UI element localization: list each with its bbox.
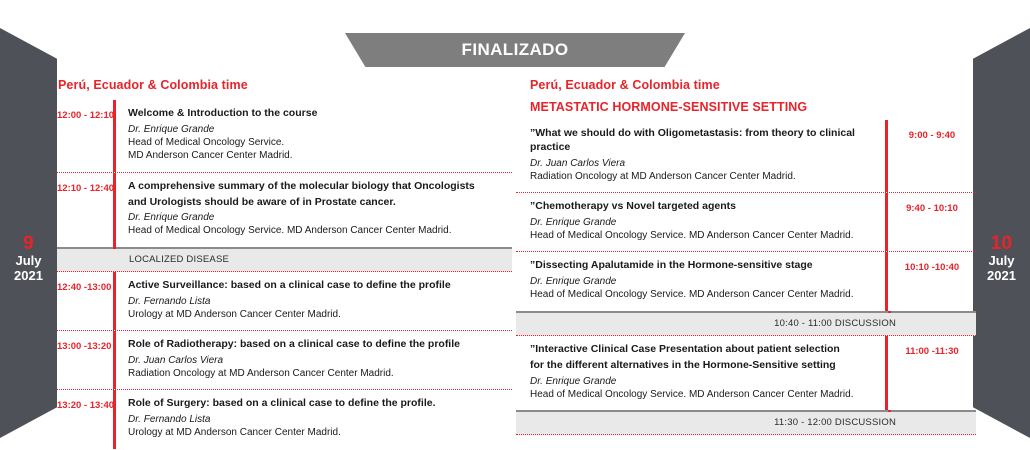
- band-tick: [888, 311, 891, 313]
- session-title-2: and Urologists should be aware of in Pro…: [128, 196, 506, 210]
- agenda-row: ”Interactive Clinical Case Presentation …: [516, 336, 976, 410]
- session-time: 12:10 - 12:40: [57, 173, 113, 194]
- session-affiliation: Head of Medical Oncology Service.: [128, 136, 506, 149]
- session-time: 13:00 -13:20: [57, 331, 113, 352]
- session-speaker: Dr. Fernando Lista: [128, 413, 506, 426]
- date-flap-day1-day: 9: [0, 233, 57, 254]
- session-body: Welcome & Introduction to the course Dr.…: [116, 100, 512, 172]
- band-tick: [888, 410, 891, 412]
- agenda-row: 12:10 - 12:40 A comprehensive summary of…: [57, 172, 512, 247]
- date-flap-day1-inner: 9 July 2021: [0, 233, 57, 283]
- session-affiliation: Head of Medical Oncology Service. MD And…: [530, 288, 877, 301]
- agenda-rows-day1-part2: 12:40 -13:00 Active Surveillance: based …: [57, 272, 512, 449]
- date-flap-day2-day: 10: [973, 233, 1030, 254]
- session-title-2: for the different alternatives in the Ho…: [530, 359, 877, 373]
- session-title: Active Surveillance: based on a clinical…: [128, 279, 506, 293]
- session-title: Welcome & Introduction to the course: [128, 107, 506, 121]
- session-affiliation: Head of Medical Oncology Service. MD And…: [128, 224, 506, 237]
- session-title: Role of Radiotherapy: based on a clinica…: [128, 338, 506, 352]
- agenda-row: ”Dissecting Apalutamide in the Hormone-s…: [516, 251, 976, 310]
- section-heading-metastatic: METASTATIC HORMONE-SENSITIVE SETTING: [516, 100, 976, 114]
- session-title: A comprehensive summary of the molecular…: [128, 180, 506, 194]
- session-speaker: Dr. Enrique Grande: [530, 275, 877, 288]
- agenda-rows-day2-part1: ”What we should do with Oligometastasis:…: [516, 120, 976, 311]
- date-flap-day2-inner: 10 July 2021: [973, 233, 1030, 283]
- session-body: ”Interactive Clinical Case Presentation …: [516, 336, 885, 410]
- agenda-row: ”Chemotherapy vs Novel targeted agents D…: [516, 192, 976, 251]
- agenda-rows-day2-part2: ”Interactive Clinical Case Presentation …: [516, 336, 976, 410]
- timezone-title-day1: Perú, Ecuador & Colombia time: [57, 78, 512, 92]
- session-body: ”What we should do with Oligometastasis:…: [516, 120, 885, 192]
- session-speaker: Dr. Enrique Grande: [128, 211, 506, 224]
- session-body: Role of Surgery: based on a clinical cas…: [116, 390, 512, 448]
- discussion-band-1: 10:40 - 11:00 DISCUSSION: [516, 311, 976, 336]
- session-speaker: Dr. Juan Carlos Viera: [530, 157, 877, 170]
- session-body: Role of Radiotherapy: based on a clinica…: [116, 331, 512, 389]
- session-time: 11:00 -11:30: [888, 336, 976, 357]
- date-flap-day2: 10 July 2021: [973, 28, 1030, 438]
- session-speaker: Dr. Juan Carlos Viera: [128, 354, 506, 367]
- agenda-column-day2: Perú, Ecuador & Colombia time METASTATIC…: [516, 78, 976, 435]
- session-title: Role of Surgery: based on a clinical cas…: [128, 397, 506, 411]
- agenda-row: 12:00 - 12:10 Welcome & Introduction to …: [57, 100, 512, 172]
- agenda-column-day1: Perú, Ecuador & Colombia time 12:00 - 12…: [57, 78, 512, 449]
- agenda-poster: 9 July 2021 10 July 2021 FINALIZADO Perú…: [0, 0, 1030, 450]
- session-affiliation-2: MD Anderson Cancer Center Madrid.: [128, 149, 506, 162]
- date-flap-day1-year: 2021: [0, 269, 57, 284]
- session-time: 9:00 - 9:40: [888, 120, 976, 141]
- session-time: 13:20 - 13:40: [57, 390, 113, 411]
- status-badge-finalizado: FINALIZADO: [345, 33, 685, 67]
- session-time: 12:40 -13:00: [57, 272, 113, 293]
- date-flap-day2-year: 2021: [973, 269, 1030, 284]
- session-time: 9:40 - 10:10: [888, 193, 976, 214]
- session-speaker: Dr. Fernando Lista: [128, 295, 506, 308]
- session-speaker: Dr. Enrique Grande: [530, 216, 877, 229]
- agenda-row: 12:40 -13:00 Active Surveillance: based …: [57, 272, 512, 330]
- discussion-band-2: 11:30 - 12:00 DISCUSSION: [516, 410, 976, 435]
- session-body: ”Chemotherapy vs Novel targeted agents D…: [516, 193, 885, 251]
- agenda-row: 13:00 -13:20 Role of Radiotherapy: based…: [57, 330, 512, 389]
- session-speaker: Dr. Enrique Grande: [530, 375, 877, 388]
- session-time: 12:00 - 12:10: [57, 100, 113, 121]
- session-title: ”Dissecting Apalutamide in the Hormone-s…: [530, 259, 877, 273]
- session-affiliation: Radiation Oncology at MD Anderson Cancer…: [530, 170, 877, 183]
- date-flap-day1-month: July: [0, 254, 57, 269]
- session-affiliation: Radiation Oncology at MD Anderson Cancer…: [128, 367, 506, 380]
- session-affiliation: Urology at MD Anderson Cancer Center Mad…: [128, 308, 506, 321]
- session-title: ”Chemotherapy vs Novel targeted agents: [530, 200, 877, 214]
- section-band-localized-disease: LOCALIZED DISEASE: [57, 247, 512, 272]
- session-title: ”Interactive Clinical Case Presentation …: [530, 343, 877, 357]
- session-time: 10:10 -10:40: [888, 252, 976, 273]
- session-body: ”Dissecting Apalutamide in the Hormone-s…: [516, 252, 885, 310]
- session-affiliation: Head of Medical Oncology Service. MD And…: [530, 388, 877, 401]
- date-flap-day1: 9 July 2021: [0, 28, 57, 438]
- timezone-title-day2: Perú, Ecuador & Colombia time: [516, 78, 976, 92]
- session-affiliation: Head of Medical Oncology Service. MD And…: [530, 229, 877, 242]
- agenda-row: ”What we should do with Oligometastasis:…: [516, 120, 976, 192]
- session-affiliation: Urology at MD Anderson Cancer Center Mad…: [128, 426, 506, 439]
- session-title: ”What we should do with Oligometastasis:…: [530, 127, 877, 155]
- agenda-row: 13:20 - 13:40 Role of Surgery: based on …: [57, 389, 512, 448]
- date-flap-day2-month: July: [973, 254, 1030, 269]
- session-body: Active Surveillance: based on a clinical…: [116, 272, 512, 330]
- session-speaker: Dr. Enrique Grande: [128, 123, 506, 136]
- band-tick: [113, 247, 116, 249]
- session-body: A comprehensive summary of the molecular…: [116, 173, 512, 247]
- agenda-rows-day1-part1: 12:00 - 12:10 Welcome & Introduction to …: [57, 100, 512, 247]
